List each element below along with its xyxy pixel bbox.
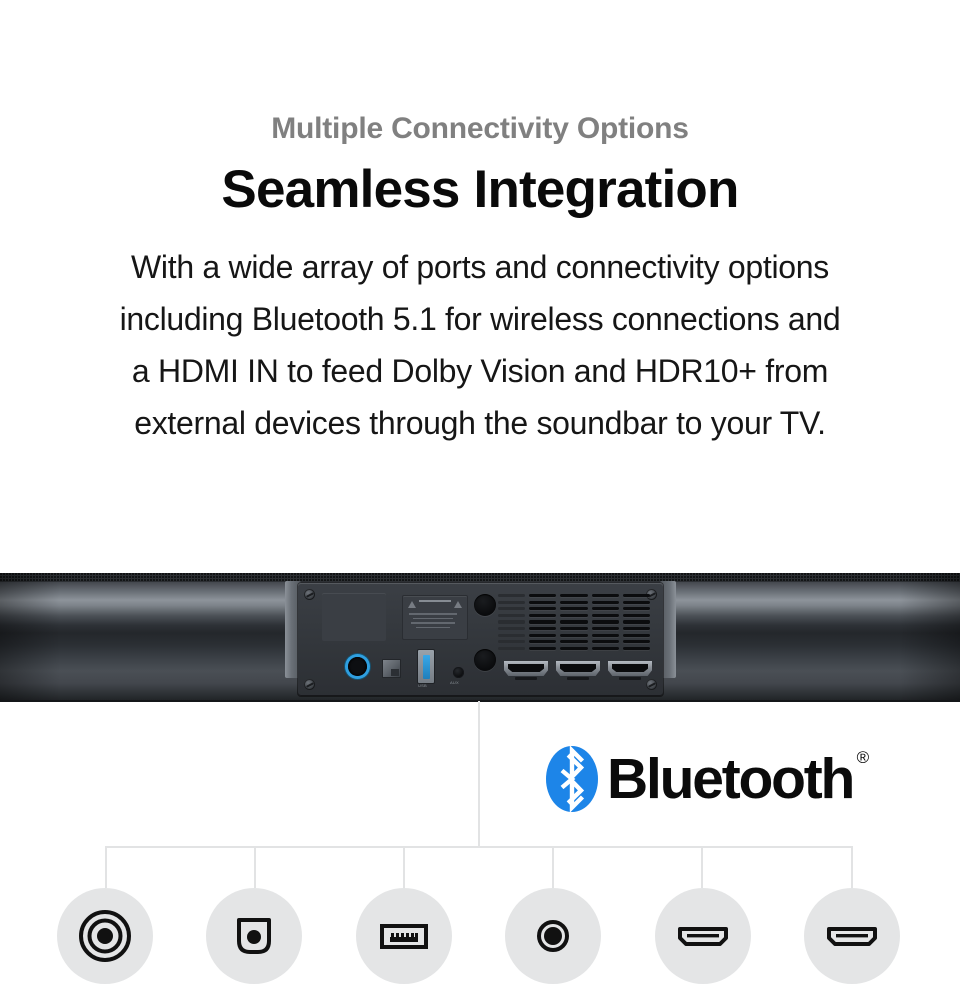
icon-chip-coaxial[interactable] bbox=[57, 888, 153, 984]
usb-icon bbox=[376, 908, 432, 964]
icon-chip-hdmi-in[interactable] bbox=[655, 888, 751, 984]
icon-chip-aux[interactable] bbox=[505, 888, 601, 984]
panel-hdmi-port-2 bbox=[556, 661, 600, 676]
panel-optical-port bbox=[348, 657, 367, 676]
panel-blank-plate bbox=[322, 593, 386, 641]
connectivity-icon-row bbox=[0, 888, 960, 988]
rear-port-panel: USB AUX bbox=[298, 583, 663, 696]
aux-jack-icon bbox=[525, 908, 581, 964]
soundbar-left-shadow bbox=[0, 573, 60, 702]
panel-hdmi-port-1 bbox=[504, 661, 548, 676]
page-title: Seamless Integration bbox=[0, 144, 960, 216]
connector-drop-3 bbox=[403, 846, 405, 888]
ventilation-grid bbox=[498, 594, 650, 650]
warning-label-text bbox=[409, 613, 461, 631]
connector-drop-5 bbox=[701, 846, 703, 888]
vent-column bbox=[592, 594, 619, 650]
panel-service-port bbox=[382, 659, 401, 678]
hdmi-icon bbox=[675, 908, 731, 964]
soundbar-product-image: USB AUX bbox=[0, 573, 960, 702]
panel-mount-hole-upper bbox=[474, 594, 496, 616]
panel-screw-bottom-left bbox=[304, 679, 315, 690]
hdmi-icon bbox=[824, 908, 880, 964]
connector-drop-1 bbox=[105, 846, 107, 888]
panel-hdmi-port-3 bbox=[608, 661, 652, 676]
optical-toslink-icon bbox=[226, 908, 282, 964]
connector-drop-6 bbox=[851, 846, 853, 888]
panel-mount-hole-lower bbox=[474, 649, 496, 671]
panel-aux-port bbox=[453, 667, 464, 678]
panel-usb-port bbox=[417, 649, 435, 684]
panel-screw-top-left bbox=[304, 589, 315, 600]
soundbar-speaker-mesh bbox=[0, 573, 960, 582]
page-eyebrow: Multiple Connectivity Options bbox=[0, 0, 960, 144]
hero-text-block: Multiple Connectivity Options Seamless I… bbox=[0, 0, 960, 449]
connector-drop-4 bbox=[552, 846, 554, 888]
icon-chip-usb[interactable] bbox=[356, 888, 452, 984]
connector-bus-horizontal bbox=[105, 846, 853, 848]
warning-triangle-right-icon bbox=[454, 601, 462, 608]
icon-chip-optical[interactable] bbox=[206, 888, 302, 984]
vent-column bbox=[529, 594, 556, 650]
warning-label bbox=[402, 595, 468, 640]
panel-screw-bottom-right bbox=[646, 679, 657, 690]
hero-description: With a wide array of ports and connectiv… bbox=[110, 216, 850, 449]
soundbar-right-shadow bbox=[900, 573, 960, 702]
bluetooth-badge: Bluetooth ® bbox=[546, 745, 853, 813]
vent-column bbox=[498, 594, 525, 650]
panel-usb-label: USB bbox=[418, 684, 427, 688]
bluetooth-wordmark: Bluetooth ® bbox=[607, 751, 853, 808]
vent-column bbox=[560, 594, 587, 650]
bluetooth-wordmark-text: Bluetooth bbox=[607, 747, 853, 811]
coaxial-icon bbox=[77, 908, 133, 964]
registered-trademark-icon: ® bbox=[857, 749, 870, 766]
bluetooth-icon bbox=[546, 746, 598, 812]
icon-chip-hdmi-out[interactable] bbox=[804, 888, 900, 984]
vent-column bbox=[623, 594, 650, 650]
warning-triangle-left-icon bbox=[408, 601, 416, 608]
connector-drop-2 bbox=[254, 846, 256, 888]
panel-aux-label: AUX bbox=[450, 681, 459, 685]
connector-line-bluetooth bbox=[478, 701, 480, 847]
warning-label-title bbox=[419, 600, 451, 602]
